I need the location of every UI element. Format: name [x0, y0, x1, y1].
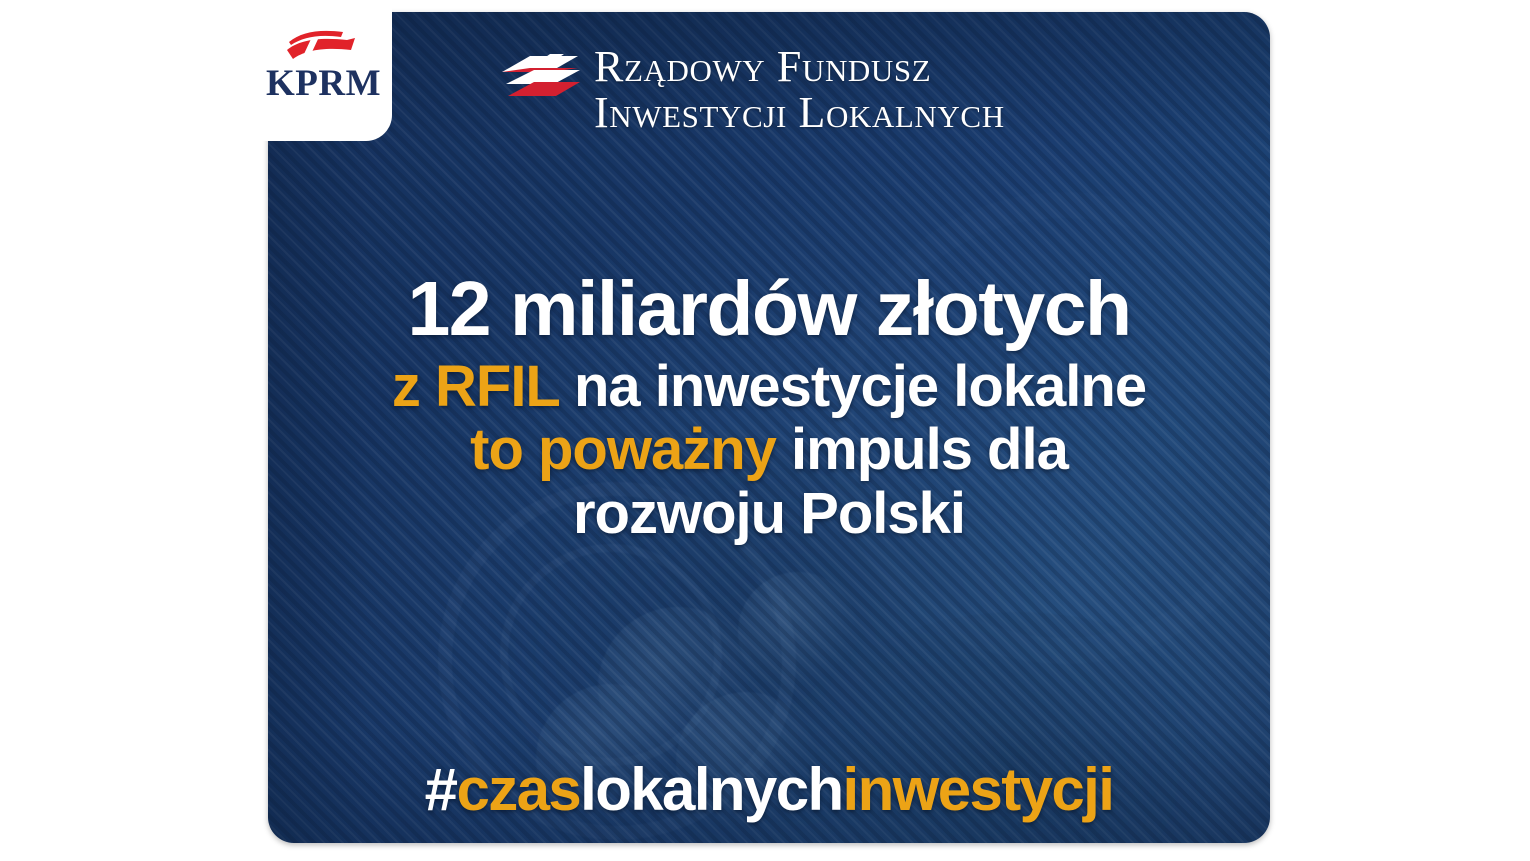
headline-block: 12 miliardów złotych z RFIL na inwestycj… — [328, 270, 1210, 546]
headline-line-1: 12 miliardów złotych — [328, 270, 1210, 349]
poster-card: Rządowy Fundusz Inwestycji Lokalnych 12 … — [268, 12, 1270, 843]
hashtag-symbol: # — [425, 756, 457, 823]
program-lockup: Rządowy Fundusz Inwestycji Lokalnych — [500, 44, 1120, 136]
hashtag-part-czas: czas — [456, 756, 580, 823]
program-title-line-2: Inwestycji Lokalnych — [594, 90, 1005, 136]
program-title-text: Rządowy Fundusz Inwestycji Lokalnych — [594, 44, 1005, 136]
kprm-badge: KPRM — [255, 0, 392, 141]
program-title-line-1: Rządowy Fundusz — [594, 44, 1005, 90]
headline-line-3-accent: to poważny — [470, 417, 776, 482]
headline-line-3: to poważny impuls dla — [328, 418, 1210, 482]
kprm-acronym: KPRM — [255, 62, 392, 105]
campaign-hashtag: #czaslokalnychinwestycji — [328, 755, 1210, 824]
headline-line-3-rest: impuls dla — [791, 417, 1068, 482]
headline-line-2-rest: na inwestycje lokalne — [574, 354, 1146, 419]
headline-line-2-accent: z RFIL — [392, 354, 559, 419]
headline-line-2: z RFIL na inwestycje lokalne — [328, 355, 1210, 419]
headline-line-4: rozwoju Polski — [328, 482, 1210, 546]
polish-flag-stylized-icon — [285, 28, 361, 62]
hashtag-part-inwestycji: inwestycji — [843, 756, 1114, 823]
hashtag-part-lokalnych: lokalnych — [580, 756, 842, 823]
poster-canvas: Rządowy Fundusz Inwestycji Lokalnych 12 … — [0, 0, 1530, 861]
polish-flag-diagonal-bands-icon — [500, 52, 580, 100]
